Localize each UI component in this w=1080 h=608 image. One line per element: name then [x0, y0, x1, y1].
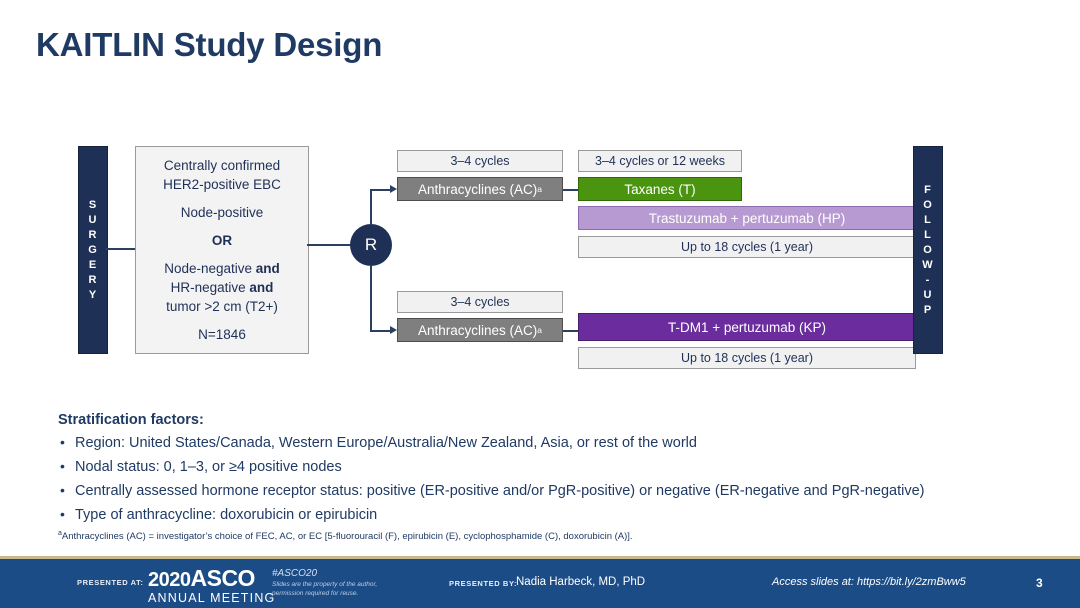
upper-anthracyclines-box: Anthracyclines (AC)a	[397, 177, 563, 201]
slide-footer: PRESENTED AT: 2020ASCO ANNUAL MEETING #A…	[0, 556, 1080, 608]
eligibility-line-6: HR-negative and	[171, 278, 274, 297]
hashtag: #ASCO20	[272, 568, 377, 579]
upper-ac-cycles-label: 3–4 cycles	[397, 150, 563, 172]
connector-lower-horizontal	[370, 330, 392, 332]
lower-anthracyclines-box: Anthracyclines (AC)a	[397, 318, 563, 342]
tdm1-pertuzumab-box: T-DM1 + pertuzumab (KP)	[578, 313, 916, 341]
rights-line-2: permission required for reuse.	[272, 590, 377, 599]
connector-surgery-eligibility	[106, 248, 135, 250]
asco-logo-subtitle: ANNUAL MEETING	[148, 592, 275, 605]
stratification-item-anthracycline-type: Type of anthracycline: doxorubicin or ep…	[58, 506, 1058, 524]
connector-upper-horizontal	[370, 189, 392, 191]
surgery-bar-label: S U R G E R Y	[88, 198, 98, 303]
presented-by-label: PRESENTED BY:	[449, 579, 517, 588]
taxanes-box: Taxanes (T)	[578, 177, 742, 201]
study-design-diagram: S U R G E R Y Centrally confirmed HER2-p…	[0, 0, 1080, 400]
connector-lower-ac-kp	[563, 330, 578, 332]
asco-logo-year: 2020	[148, 569, 191, 591]
eligibility-line-2: HER2-positive EBC	[163, 175, 281, 194]
eligibility-line-1: Centrally confirmed	[164, 156, 280, 175]
connector-upper-ac-taxanes	[563, 189, 578, 191]
randomization-node: R	[350, 224, 392, 266]
page-number: 3	[1036, 576, 1043, 590]
access-slides-link[interactable]: Access slides at: https://bit.ly/2zmBww5	[772, 576, 966, 588]
stratification-item-region: Region: United States/Canada, Western Eu…	[58, 434, 1058, 452]
eligibility-n: N=1846	[198, 325, 246, 344]
stratification-item-hormone-receptor: Centrally assessed hormone receptor stat…	[58, 482, 1058, 500]
lower-anthracyclines-label: Anthracyclines (AC)	[418, 323, 537, 338]
asco-logo-name: ASCO	[191, 565, 255, 591]
arrow-upper-arm	[390, 185, 397, 193]
randomization-label: R	[365, 235, 377, 255]
connector-r-up	[370, 190, 372, 224]
asco-logo: 2020ASCO ANNUAL MEETING	[148, 567, 275, 605]
arrow-lower-arm	[390, 326, 397, 334]
slide-root: KAITLIN Study Design S U R G E R Y Centr…	[0, 0, 1080, 605]
speaker-name: Nadia Harbeck, MD, PhD	[516, 576, 645, 588]
footnote-text: Anthracyclines (AC) = investigator’s cho…	[62, 531, 633, 542]
lower-kp-cycles-label: Up to 18 cycles (1 year)	[578, 347, 916, 369]
eligibility-box: Centrally confirmed HER2-positive EBC No…	[135, 146, 309, 354]
eligibility-line-5: Node-negative and	[164, 259, 280, 278]
eligibility-line-7: tumor >2 cm (T2+)	[166, 297, 278, 316]
trastuzumab-pertuzumab-box: Trastuzumab + pertuzumab (HP)	[578, 206, 916, 230]
stratification-item-nodal-status: Nodal status: 0, 1–3, or ≥4 positive nod…	[58, 458, 1058, 476]
hashtag-block: #ASCO20 Slides are the property of the a…	[272, 568, 377, 598]
followup-bar: F O L L O W - U P	[913, 146, 943, 354]
eligibility-line-3: Node-positive	[181, 203, 264, 222]
connector-r-down	[370, 266, 372, 331]
upper-taxane-cycles-label: 3–4 cycles or 12 weeks	[578, 150, 742, 172]
stratification-section: Stratification factors: Region: United S…	[58, 412, 1058, 530]
upper-hp-cycles-label: Up to 18 cycles (1 year)	[578, 236, 916, 258]
surgery-bar: S U R G E R Y	[78, 146, 108, 354]
stratification-heading: Stratification factors:	[58, 412, 1058, 428]
upper-anthracyclines-label: Anthracyclines (AC)	[418, 182, 537, 197]
eligibility-or: OR	[212, 231, 232, 250]
followup-bar-label: F O L L O W - U P	[922, 183, 933, 318]
stratification-list: Region: United States/Canada, Western Eu…	[58, 434, 1058, 524]
rights-line-1: Slides are the property of the author,	[272, 581, 377, 590]
connector-eligibility-randomization	[307, 244, 351, 246]
footnote: aAnthracyclines (AC) = investigator’s ch…	[58, 530, 1058, 543]
presented-at-label: PRESENTED AT:	[77, 578, 144, 587]
lower-ac-cycles-label: 3–4 cycles	[397, 291, 563, 313]
